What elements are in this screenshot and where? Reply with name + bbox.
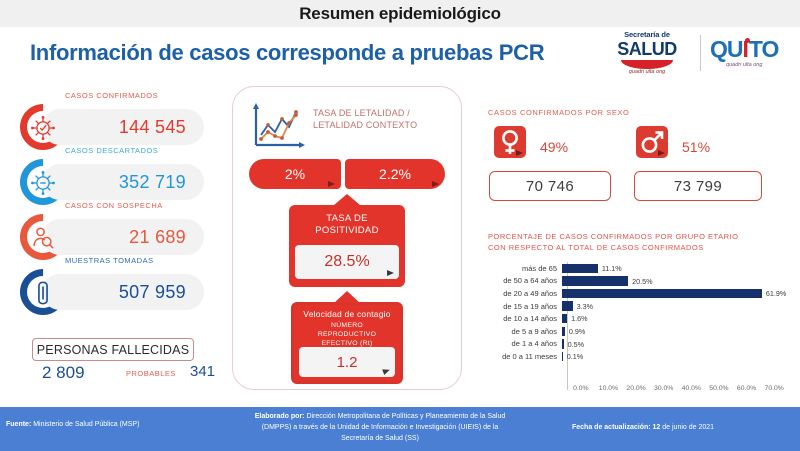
chart-bar-value: 20.5%	[632, 277, 652, 286]
positividad-value-box: 28.5%	[295, 245, 399, 279]
chart-category-label: de 50 a 64 años	[488, 276, 562, 285]
chart-row: de 10 a 14 años1.6%	[488, 312, 788, 325]
logo-divider	[700, 35, 701, 71]
footer-source-label: Fuente:	[6, 421, 31, 428]
chart-x-tick: 50.0%	[705, 385, 733, 392]
chart-bar-value: 3.3%	[577, 302, 593, 311]
chart-bar-value: 1.6%	[571, 314, 587, 323]
letalidad-label: TASA DE LETALIDAD / LETALIDAD CONTEXTO	[313, 107, 417, 131]
arrow-icon	[387, 270, 394, 276]
male-count-box: 73 799	[634, 171, 762, 201]
stat-value-confirmados: 144 545	[119, 117, 186, 138]
chart-category-label: de 5 a 9 años	[488, 327, 562, 336]
salud-logo-tagline: quadri ulta ong	[629, 70, 665, 76]
velocidad-contagio-box: Velocidad de contagio NÚMERO REPRODUCTIV…	[291, 302, 403, 384]
chart-bar-track: 0.5%	[562, 338, 788, 351]
chart-row: de 15 a 19 años3.3%	[488, 300, 788, 313]
chart-x-tick: 30.0%	[650, 385, 678, 392]
fallecidas-confirmed-value: 2 809	[42, 363, 85, 383]
stat-caption-sospecha: CASOS CON SOSPECHA	[65, 201, 163, 210]
quito-logo-tagline: quadri ulta ong	[726, 63, 762, 69]
personas-fallecidas-label: PERSONAS FALLECIDAS	[37, 343, 189, 357]
chart-bar-track: 20.5%	[562, 275, 788, 288]
male-count: 73 799	[674, 178, 722, 195]
chart-row: de 5 a 9 años0.9%	[488, 325, 788, 338]
footer-date-rest: de junio de 2021	[660, 424, 714, 431]
footer-elaborated-line2: (DMPPS) a través de la Unidad de Informa…	[215, 423, 545, 434]
letalidad-contexto-value: 2.2%	[379, 166, 411, 182]
stat-pill-muestras: 507 959	[42, 274, 204, 310]
age-group-bar-chart: más de 6511.1%de 50 a 64 años20.5%de 20 …	[488, 262, 788, 390]
age-chart-title-line2: CON RESPECTO AL TOTAL DE CASOS CONFIRMAD…	[488, 243, 738, 254]
secretaria-salud-logo: Secretaría de SALUD quadri ulta ong	[603, 31, 691, 75]
salud-logo-line2: SALUD	[617, 40, 677, 58]
footer-date-value: 12	[651, 424, 661, 431]
positividad-label: TASA DE POSITIVIDAD	[289, 213, 405, 238]
chart-bar	[562, 314, 567, 323]
chart-x-axis-ticks: 0.0%10.0%20.0%30.0%40.0%50.0%60.0%70.0%	[567, 385, 788, 392]
female-symbol-icon	[494, 126, 526, 158]
velocidad-title: Velocidad de contagio	[294, 309, 400, 319]
quito-logo-dot	[745, 38, 750, 43]
male-percent: 51%	[682, 139, 710, 155]
logo-group: Secretaría de SALUD quadri ulta ong QUIT…	[603, 27, 793, 79]
stat-card-casos-sospecha: CASOS CON SOSPECHA 21 689	[20, 210, 205, 262]
letalidad-label-line2: LETALIDAD CONTEXTO	[313, 119, 417, 131]
footer-elaborated: Elaborado por: Dirección Metropolitana d…	[215, 412, 545, 445]
virus-minus-icon	[30, 170, 56, 196]
quito-logo: QUITO quadri ulta ong	[710, 38, 778, 69]
chart-bar-value: 0.1%	[567, 352, 583, 361]
footer-date: Fecha de actualización: 12 de junio de 2…	[572, 424, 714, 431]
chart-x-tick: 70.0%	[760, 385, 788, 392]
salud-logo-swoosh	[621, 60, 673, 69]
chart-bar	[562, 264, 598, 273]
chart-category-label: de 1 a 4 años	[488, 339, 562, 348]
velocidad-subtitle-line1: NÚMERO	[294, 321, 400, 330]
chart-bar-value: 0.5%	[568, 340, 584, 349]
tasa-positividad-box: TASA DE POSITIVIDAD 28.5%	[289, 205, 405, 287]
chart-row: de 1 a 4 años0.5%	[488, 338, 788, 351]
footer-bar: Fuente: Ministerio de Salud Pública (MSP…	[0, 407, 800, 451]
chart-bar-track: 1.6%	[562, 312, 788, 325]
chart-bar	[562, 352, 563, 361]
stat-card-muestras-tomadas: MUESTRAS TOMADAS 507 959	[20, 265, 205, 317]
positividad-label-line1: TASA DE	[289, 213, 405, 225]
salud-logo-line1: Secretaría de	[624, 31, 670, 39]
chart-bar-track: 11.1%	[562, 262, 788, 275]
arrow-icon	[658, 150, 665, 156]
chart-row: más de 6511.1%	[488, 262, 788, 275]
female-count: 70 746	[526, 178, 574, 195]
chart-bar-value: 61.9%	[766, 289, 786, 298]
arrow-icon	[432, 181, 439, 187]
male-symbol-icon	[636, 126, 668, 158]
page-title: Resumen epidemiológico	[299, 4, 501, 24]
sexo-section-title: CASOS CONFIRMADOS POR SEXO	[488, 108, 629, 117]
chart-row: de 20 a 49 años61.9%	[488, 287, 788, 300]
letalidad-contexto-value-pill: 2.2%	[345, 159, 445, 189]
footer-elaborated-line1: Dirección Metropolitana de Políticas y P…	[305, 413, 506, 420]
stat-caption-descartados: CASOS DESCARTADOS	[65, 146, 158, 155]
person-search-icon	[30, 225, 56, 251]
chart-bar-track: 0.1%	[562, 350, 788, 363]
chart-x-tick: 20.0%	[622, 385, 650, 392]
positividad-label-line2: POSITIVIDAD	[289, 225, 405, 237]
headline-text: Información de casos corresponde a prueb…	[30, 40, 544, 66]
chart-category-label: de 0 a 11 meses	[488, 352, 562, 361]
chart-row: de 0 a 11 meses0.1%	[488, 350, 788, 363]
top-title-bar: Resumen epidemiológico	[0, 0, 800, 27]
female-percent: 49%	[540, 139, 568, 155]
chart-category-label: de 15 a 19 años	[488, 302, 562, 311]
chart-category-label: de 20 a 49 años	[488, 289, 562, 298]
chart-category-label: más de 65	[488, 264, 562, 273]
letalidad-label-line1: TASA DE LETALIDAD /	[313, 107, 417, 119]
chart-bar-value: 11.1%	[602, 264, 622, 273]
velocidad-value-box: 1.2	[299, 347, 395, 377]
chart-x-tick: 0.0%	[567, 385, 595, 392]
quito-logo-word: QUITO	[710, 38, 778, 61]
chart-bar-track: 3.3%	[562, 300, 788, 313]
footer-source: Fuente: Ministerio de Salud Pública (MSP…	[6, 421, 139, 428]
stat-value-muestras: 507 959	[119, 282, 186, 303]
stat-value-sospecha: 21 689	[129, 227, 186, 248]
velocidad-subtitle: NÚMERO REPRODUCTIVO EFECTIVO (Rt)	[294, 321, 400, 349]
chart-bar	[562, 301, 573, 310]
footer-date-label: Fecha de actualización:	[572, 424, 651, 431]
fallecidas-probables-value: 341	[190, 363, 215, 380]
stat-pill-sospecha: 21 689	[42, 219, 204, 255]
chart-bar-track: 61.9%	[562, 287, 788, 300]
velocidad-value: 1.2	[337, 354, 358, 371]
quito-logo-part3: TO	[749, 38, 779, 61]
fallecidas-probables-label: PROBABLES	[126, 369, 176, 378]
quito-logo-part1: QU	[710, 38, 743, 61]
arrow-icon	[382, 367, 391, 375]
virus-check-icon	[30, 115, 56, 141]
chart-bar	[562, 276, 628, 285]
stat-caption-confirmados: CASOS CONFIRMADOS	[65, 91, 158, 100]
chart-bar-value: 0.9%	[569, 327, 585, 336]
notch-shape	[334, 194, 360, 205]
chart-x-tick: 10.0%	[595, 385, 623, 392]
line-chart-icon	[247, 99, 309, 151]
chart-rows: más de 6511.1%de 50 a 64 años20.5%de 20 …	[488, 262, 788, 363]
velocidad-subtitle-line2: REPRODUCTIVO	[294, 330, 400, 339]
age-chart-title: PORCENTAJE DE CASOS CONFIRMADOS POR GRUP…	[488, 232, 738, 254]
stat-caption-muestras: MUESTRAS TOMADAS	[65, 256, 154, 265]
letalidad-value-pill: 2%	[249, 159, 341, 189]
indicators-panel: TASA DE LETALIDAD / LETALIDAD CONTEXTO 2…	[232, 86, 462, 390]
chart-bar	[562, 289, 762, 298]
chart-bar	[562, 327, 565, 336]
chart-bar	[562, 339, 564, 348]
stat-card-casos-confirmados: CASOS CONFIRMADOS 144 545	[20, 100, 205, 152]
chart-x-tick: 40.0%	[678, 385, 706, 392]
footer-elaborated-line3: Secretaría de Salud (SS)	[215, 434, 545, 445]
chart-row: de 50 a 64 años20.5%	[488, 275, 788, 288]
positividad-value: 28.5%	[324, 253, 369, 271]
chart-category-label: de 10 a 14 años	[488, 314, 562, 323]
age-chart-title-line1: PORCENTAJE DE CASOS CONFIRMADOS POR GRUP…	[488, 232, 738, 243]
stat-card-casos-descartados: CASOS DESCARTADOS 352 719	[20, 155, 205, 207]
arrow-icon	[328, 181, 335, 187]
footer-source-text: Ministerio de Salud Pública (MSP)	[31, 421, 139, 428]
chart-bar-track: 0.9%	[562, 325, 788, 338]
arrow-icon	[516, 150, 523, 156]
stat-pill-descartados: 352 719	[42, 164, 204, 200]
stat-pill-confirmados: 144 545	[42, 109, 204, 145]
notch-shape	[334, 291, 360, 303]
letalidad-value: 2%	[285, 166, 305, 182]
test-tube-icon	[30, 280, 56, 306]
footer-elaborated-label: Elaborado por:	[255, 413, 305, 420]
dashboard-root: Resumen epidemiológico Información de ca…	[0, 0, 800, 451]
female-count-box: 70 746	[489, 171, 611, 201]
chart-x-tick: 60.0%	[733, 385, 761, 392]
stat-value-descartados: 352 719	[119, 172, 186, 193]
personas-fallecidas-box: PERSONAS FALLECIDAS	[32, 338, 194, 361]
